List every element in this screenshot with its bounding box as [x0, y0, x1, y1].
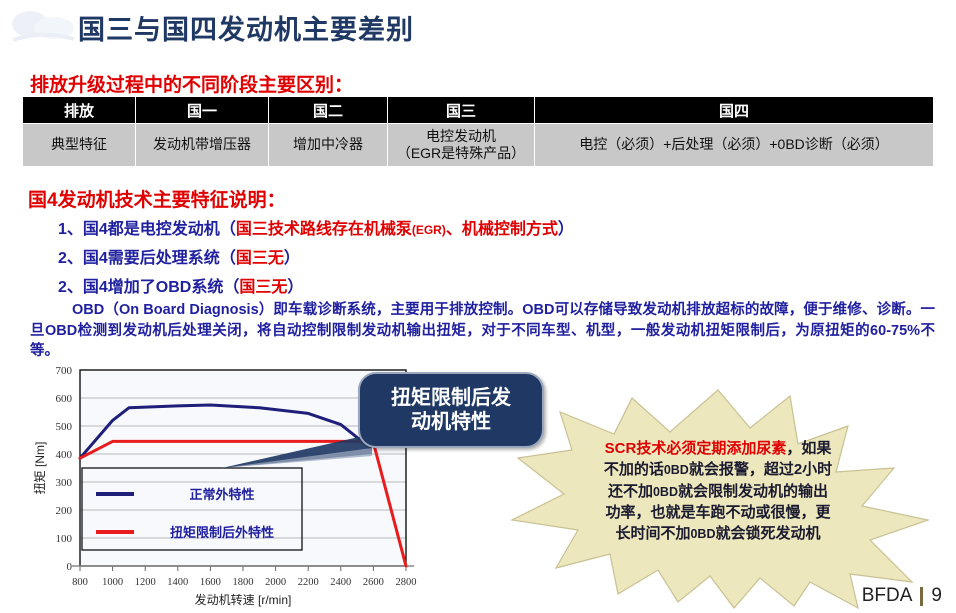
y-axis-tick-label: 600: [56, 393, 73, 405]
scr-warning-line: 还不加0BD就会限制发动机的输出: [544, 481, 892, 502]
x-axis-tick-label: 1400: [167, 577, 188, 588]
scr-warning-obd: 0BD: [664, 463, 689, 477]
bullet-highlight: 国三技术路线存在机械泵: [236, 221, 412, 238]
x-axis-title: 发动机转速 [r/min]: [195, 592, 292, 607]
callout-line-1: 扭矩限制后发: [391, 386, 511, 410]
scr-warning-dark: 还不加: [608, 483, 653, 500]
bullet-paren-close: ）: [287, 279, 303, 296]
company-watermark-logo-icon: [8, 6, 78, 48]
scr-warning-dark: 功率，也就是车跑不动或很慢，更: [605, 504, 830, 521]
table-header-cell: 国一: [136, 97, 269, 124]
emission-stage-comparison-table: 排放 国一 国二 国三 国四 典型特征 发动机带增压器 增加中冷器 电控发动机 …: [22, 96, 934, 167]
table-cell-stage1: 发动机带增压器: [136, 124, 269, 167]
x-axis-tick-label: 2200: [298, 577, 319, 588]
section-heading-differences: 排放升级过程中的不同阶段主要区别：: [30, 70, 353, 97]
bullet-number: 2、: [58, 279, 83, 296]
scr-warning-line: 功率，也就是车跑不动或很慢，更: [544, 502, 892, 523]
x-axis-tick-label: 800: [72, 577, 88, 588]
list-item: 1、国4都是电控发动机（国三技术路线存在机械泵(EGR)、机械控制方式）: [58, 215, 574, 239]
slide-footer: BFDA 9: [862, 585, 942, 607]
y-axis-tick-label: 300: [56, 477, 73, 489]
scr-warning-dark: ，如果: [786, 440, 831, 457]
scr-warning-line: 长时间不加0BD就会锁死发动机: [544, 523, 892, 544]
section-heading-stage4-features: 国4发动机技术主要特征说明：: [28, 185, 286, 212]
chart-legend-label: 扭矩限制后外特性: [170, 525, 274, 540]
scr-warning-tail: 就会报警，超过2小时: [689, 461, 832, 478]
x-axis-tick-label: 1800: [233, 577, 254, 588]
x-axis-tick-label: 2800: [396, 577, 417, 588]
slide-root: 国三与国四发动机主要差别 排放升级过程中的不同阶段主要区别： 排放 国一 国二 …: [0, 0, 956, 613]
bullet-main: 国4增加了OBD系统: [83, 279, 223, 296]
bullet-highlight: 国三无: [236, 250, 284, 267]
x-axis-tick-label: 1200: [135, 577, 156, 588]
table-header-row: 排放 国一 国二 国三 国四: [23, 97, 934, 124]
scr-warning-line: SCR技术必须定期添加尿素，如果: [544, 438, 892, 459]
y-axis-tick-label: 500: [56, 421, 73, 433]
bullet-paren-close: ）: [558, 221, 574, 238]
stage3-line2: （EGR是特殊产品）: [397, 145, 525, 161]
bullet-highlight-tail: 、机械控制方式: [446, 221, 558, 238]
y-axis-tick-label: 0: [67, 561, 73, 573]
scr-warning-tail: 就会限制发动机的输出: [678, 483, 828, 500]
scr-warning-red: SCR技术必须定期添加尿素: [605, 440, 787, 457]
table-header-cell: 排放: [23, 97, 136, 124]
scr-warning-line: 不加的话0BD就会报警，超过2小时: [544, 459, 892, 480]
x-axis-tick-label: 1600: [200, 577, 221, 588]
x-axis-tick-label: 2400: [330, 577, 351, 588]
list-item: 2、国4需要后处理系统（国三无）: [58, 244, 300, 268]
table-cell-stage3: 电控发动机 （EGR是特殊产品）: [388, 124, 535, 167]
x-axis-tick-label: 2000: [265, 577, 286, 588]
table-header-cell: 国二: [269, 97, 388, 124]
callout-pointer-icon: [222, 434, 372, 474]
torque-limited-callout: 扭矩限制后发 动机特性: [358, 372, 544, 448]
table-cell-stage2: 增加中冷器: [269, 124, 388, 167]
bullet-main: 国4都是电控发动机: [83, 221, 220, 238]
bullet-paren-close: ）: [284, 250, 300, 267]
y-axis-title: 扭矩 [Nm]: [33, 442, 47, 495]
footer-separator-icon: [920, 587, 923, 606]
footer-page-number: 9: [931, 585, 942, 607]
scr-warning-obd: 0BD: [653, 485, 678, 499]
bullet-highlight: 国三无: [239, 279, 287, 296]
scr-warning-tail: 就会锁死发动机: [716, 525, 821, 542]
scr-warning-dark: 长时间不加: [615, 525, 690, 542]
bullet-paren-open: （: [220, 250, 236, 267]
list-item: 2、国4增加了OBD系统（国三无）: [58, 273, 303, 297]
table-cell-feature-label: 典型特征: [23, 124, 136, 167]
scr-warning-dark: 不加的话: [604, 461, 664, 478]
obd-description-paragraph: OBD（On Board Diagnosis）即车载诊断系统，主要用于排放控制。…: [30, 300, 935, 362]
y-axis-tick-label: 100: [56, 533, 73, 545]
scr-warning-text: SCR技术必须定期添加尿素，如果 不加的话0BD就会报警，超过2小时 还不加0B…: [544, 438, 892, 544]
bullet-number: 1、: [58, 221, 83, 238]
table-header-cell: 国四: [535, 97, 934, 124]
y-axis-tick-label: 700: [56, 365, 73, 377]
chart-legend-label: 正常外特性: [189, 487, 254, 502]
page-title: 国三与国四发动机主要差别: [78, 8, 414, 47]
stage3-line1: 电控发动机: [426, 128, 496, 144]
bullet-highlight-small: (EGR): [412, 223, 446, 237]
table-row: 典型特征 发动机带增压器 增加中冷器 电控发动机 （EGR是特殊产品） 电控（必…: [23, 124, 934, 167]
x-axis-tick-label: 1000: [102, 577, 123, 588]
bullet-main: 国4需要后处理系统: [83, 250, 220, 267]
table-header-cell: 国三: [388, 97, 535, 124]
scr-warning-obd: 0BD: [690, 527, 715, 541]
y-axis-tick-label: 200: [56, 505, 73, 517]
callout-line-2: 动机特性: [411, 410, 491, 434]
bullet-paren-open: （: [223, 279, 239, 296]
table-cell-stage4: 电控（必须）+后处理（必须）+0BD诊断（必须）: [535, 124, 934, 167]
bullet-number: 2、: [58, 250, 83, 267]
y-axis-tick-label: 400: [56, 449, 73, 461]
x-axis-tick-label: 2600: [363, 577, 384, 588]
bullet-paren-open: （: [220, 221, 236, 238]
footer-brand: BFDA: [862, 585, 913, 607]
